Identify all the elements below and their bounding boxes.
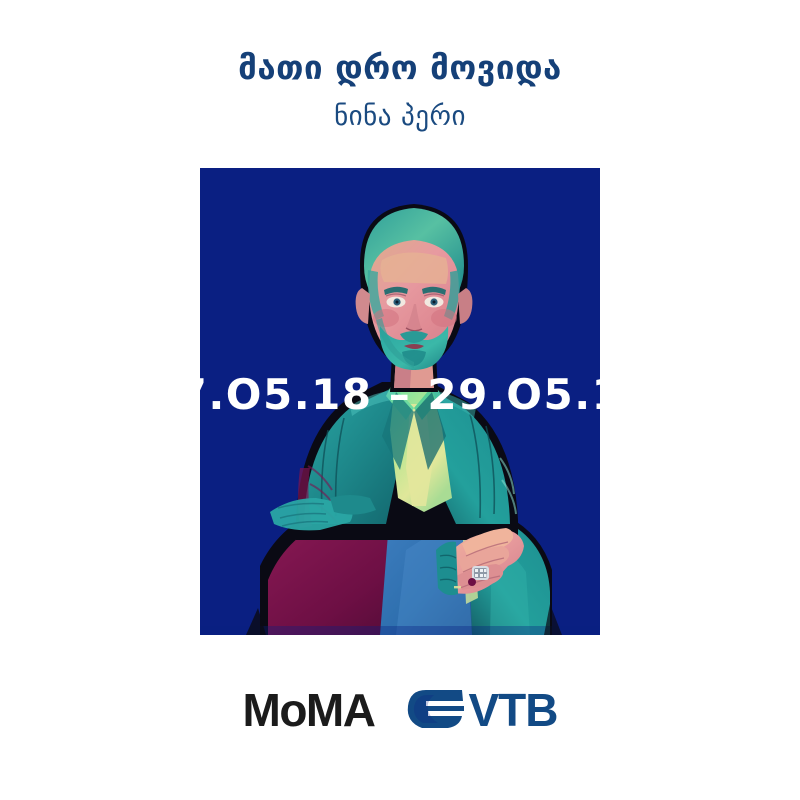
logo-row: MoMA VTB bbox=[0, 686, 800, 734]
moma-logo: MoMA bbox=[243, 687, 375, 733]
exhibition-poster: მათი დრო მოვიდა ნინა პერი bbox=[0, 0, 800, 800]
vtb-logo: VTB bbox=[404, 686, 557, 734]
artist-name: ნინა პერი bbox=[0, 101, 800, 132]
heading-block: მათი დრო მოვიდა ნინა პერი bbox=[0, 0, 800, 132]
exhibition-dates: 17.O5.18 – 29.O5.18 bbox=[0, 374, 800, 416]
vtb-wing-icon bbox=[404, 686, 466, 734]
vtb-wordmark: VTB bbox=[468, 687, 557, 733]
page-title: მათი დრო მოვიდა bbox=[0, 49, 800, 87]
